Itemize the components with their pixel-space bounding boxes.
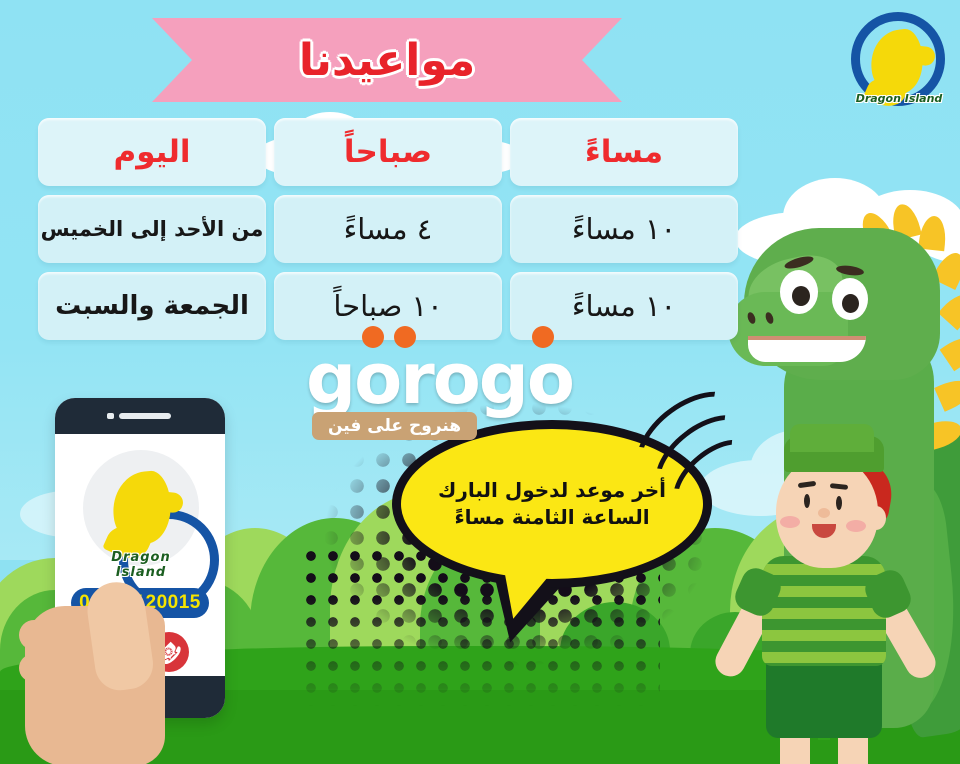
watermark-dot-icon xyxy=(362,326,384,348)
cell-text-evening: ١٠ مساءً xyxy=(572,212,676,246)
watermark-dot-icon xyxy=(394,326,416,348)
phone-in-hand-illustration: Dragon Island 01200120015 ☎ ☎ xyxy=(55,398,255,764)
cell-day: من الأحد إلى الخميس xyxy=(38,195,266,263)
table-header-row: مساءً صباحاً اليوم xyxy=(38,118,738,186)
header-cell-day: اليوم xyxy=(38,118,266,186)
watermark-text: gorogo xyxy=(306,338,646,420)
cell-evening: ١٠ مساءً xyxy=(510,195,738,263)
watermark-dot-icon xyxy=(532,326,554,348)
title-ribbon: مواعيدنا xyxy=(152,18,622,102)
cell-text-day: من الأحد إلى الخميس xyxy=(41,217,264,241)
header-cell-evening: مساءً xyxy=(510,118,738,186)
table-row: ١٠ مساءً ٤ مساءً من الأحد إلى الخميس xyxy=(38,195,738,263)
cell-text-day: الجمعة والسبت xyxy=(55,291,249,321)
camera-icon xyxy=(107,413,114,419)
schedule-table: مساءً صباحاً اليوم ١٠ مساءً ٤ مساءً من ا… xyxy=(38,118,738,349)
header-label-day: اليوم xyxy=(113,134,190,170)
brand-name-label: Dragon Island xyxy=(845,92,953,105)
notice-line-2: الساعة الثامنة مساءً xyxy=(454,504,649,531)
watermark: gorogo هنروح على فين xyxy=(306,338,646,450)
header-label-morning: صباحاً xyxy=(344,134,432,170)
cell-morning: ١٠ صباحاً xyxy=(274,272,502,340)
cell-text-morning: ١٠ صباحاً xyxy=(333,289,442,323)
watermark-tagline: هنروح على فين xyxy=(328,416,461,436)
cell-morning: ٤ مساءً xyxy=(274,195,502,263)
speaker-icon xyxy=(119,413,171,419)
notice-speech-bubble: أخر موعد لدخول البارك الساعة الثامنة مسا… xyxy=(392,420,722,630)
bubble-tail-inner xyxy=(497,563,554,622)
dragon-logo-icon: Dragon Island xyxy=(845,8,953,116)
table-row: ١٠ مساءً ١٠ صباحاً الجمعة والسبت xyxy=(38,272,738,340)
cell-text-morning: ٤ مساءً xyxy=(344,212,433,246)
hand-illustration xyxy=(25,576,225,764)
cell-text-evening: ١٠ مساءً xyxy=(572,289,676,323)
watermark-tagline-badge: هنروح على فين xyxy=(312,412,477,440)
page-title: مواعيدنا xyxy=(152,18,622,102)
phone-earpiece-bar xyxy=(55,398,225,434)
poster-canvas: أخر موعد لدخول البارك الساعة الثامنة مسا… xyxy=(0,0,960,764)
dragon-snout-shape xyxy=(150,490,184,513)
header-cell-morning: صباحاً xyxy=(274,118,502,186)
cell-day: الجمعة والسبت xyxy=(38,272,266,340)
notice-line-1: أخر موعد لدخول البارك xyxy=(438,477,666,504)
header-label-evening: مساءً xyxy=(585,134,663,170)
